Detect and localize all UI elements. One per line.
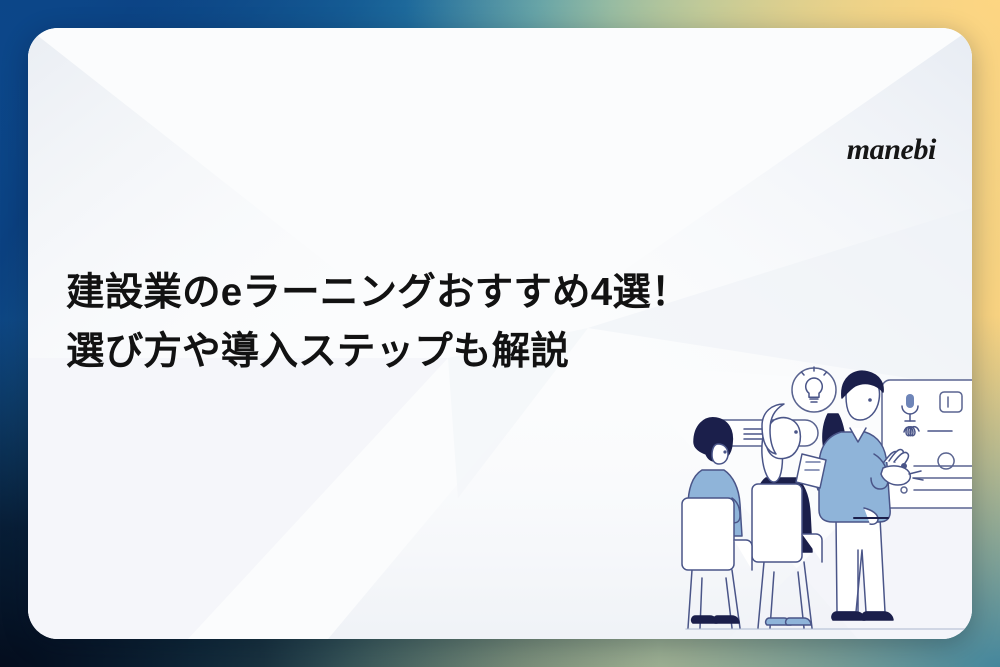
seated-attendee-left bbox=[682, 418, 752, 628]
lightbulb-icon bbox=[792, 367, 836, 412]
whiteboard-panel bbox=[882, 380, 972, 508]
banner-image: manebi 建設業のeラーニングおすすめ4選！ 選び方や導入ステップも解説 bbox=[0, 0, 1000, 667]
brand-logo: manebi bbox=[847, 135, 936, 165]
title-line-1: 建設業のeラーニングおすすめ4選！ bbox=[66, 264, 766, 323]
title-line-2: 選び方や導入ステップも解説 bbox=[66, 323, 766, 382]
page-title: 建設業のeラーニングおすすめ4選！ 選び方や導入ステップも解説 bbox=[66, 264, 766, 381]
content-card: manebi 建設業のeラーニングおすすめ4選！ 選び方や導入ステップも解説 bbox=[28, 28, 972, 639]
training-presentation-illustration bbox=[678, 358, 972, 639]
